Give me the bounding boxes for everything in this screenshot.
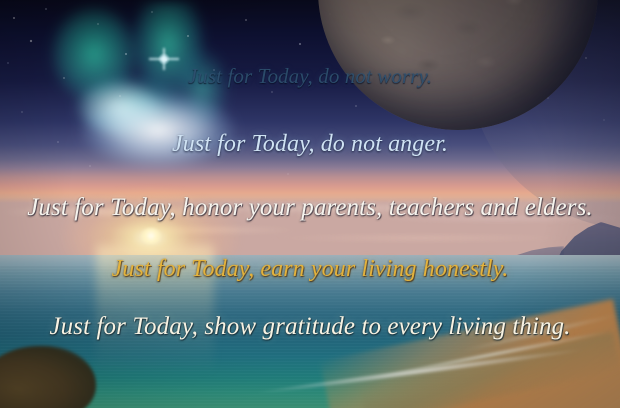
verse-list: Just for Today, do not worry. Just for T… [0, 0, 620, 408]
verse-line-2: Just for Today, do not anger. [0, 131, 620, 158]
inspirational-quote-poster: Just for Today, do not worry. Just for T… [0, 0, 620, 408]
verse-line-4: Just for Today, earn your living honestl… [0, 256, 620, 283]
verse-line-1: Just for Today, do not worry. [0, 64, 620, 89]
verse-line-3: Just for Today, honor your parents, teac… [0, 194, 620, 222]
verse-line-5: Just for Today, show gratitude to every … [0, 313, 620, 341]
